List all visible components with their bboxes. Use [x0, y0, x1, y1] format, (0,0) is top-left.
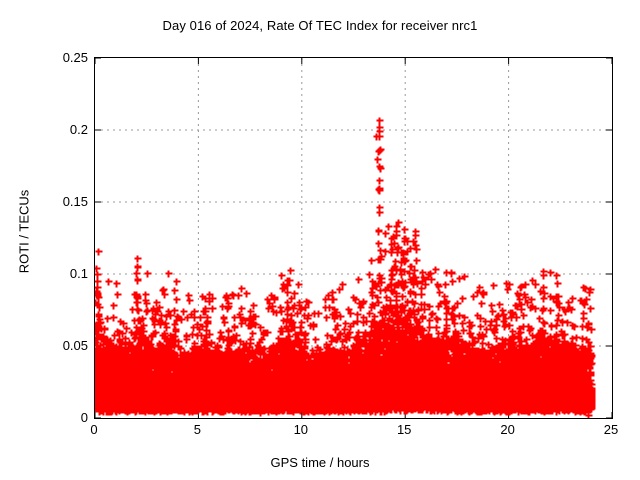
x-tick-4: 20 [488, 423, 528, 436]
x-tick-0: 0 [74, 423, 114, 436]
y-tick-4: 0.2 [70, 123, 88, 136]
scatter-series-roti [95, 58, 612, 418]
x-tick-5: 25 [591, 423, 631, 436]
y-tick-3: 0.15 [63, 195, 88, 208]
x-axis-label: GPS time / hours [0, 455, 640, 470]
x-tick-3: 15 [384, 423, 424, 436]
plot-frame [94, 57, 613, 419]
y-tick-1: 0.05 [63, 339, 88, 352]
y-tick-2: 0.1 [70, 267, 88, 280]
y-tick-5: 0.25 [63, 51, 88, 64]
chart-title: Day 016 of 2024, Rate Of TEC Index for r… [0, 18, 640, 33]
x-tick-1: 5 [177, 423, 217, 436]
chart-canvas: Day 016 of 2024, Rate Of TEC Index for r… [0, 0, 640, 480]
y-axis-label: ROTI / TECUs [17, 152, 32, 312]
x-tick-2: 10 [281, 423, 321, 436]
